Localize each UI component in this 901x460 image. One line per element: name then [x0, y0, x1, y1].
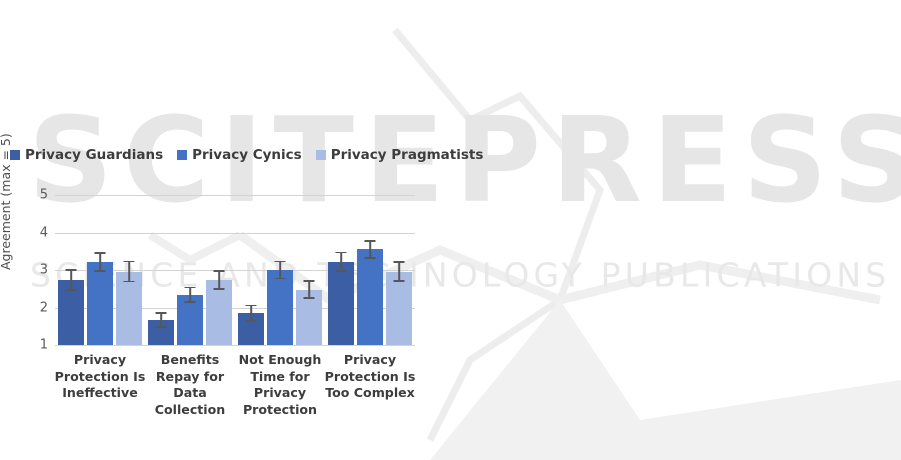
error-bar-cap-top — [304, 280, 315, 282]
error-bar-line — [218, 270, 220, 290]
error-bar-cap-bottom — [246, 320, 257, 322]
error-bar-cap-top — [365, 240, 376, 242]
error-bar-line — [340, 252, 342, 272]
error-bar-cap-top — [394, 261, 405, 263]
legend-swatch-icon — [10, 150, 20, 160]
error-bar — [177, 287, 203, 304]
legend-item-label: Privacy Pragmatists — [331, 147, 484, 163]
error-bar-cap-bottom — [394, 280, 405, 282]
error-bar-cap-top — [185, 287, 196, 289]
category-label-line: Protection Is — [50, 369, 150, 386]
error-bar-cap-bottom — [95, 270, 106, 272]
legend-item-label: Privacy Guardians — [25, 147, 163, 163]
error-bar — [296, 280, 322, 299]
x-axis-category-label: Not EnoughTime forPrivacyProtection — [230, 352, 330, 418]
category-label-line: Collection — [140, 402, 240, 419]
category-label-line: Data — [140, 385, 240, 402]
grouped-bar-chart: Privacy GuardiansPrivacy CynicsPrivacy P… — [0, 0, 901, 460]
error-bar — [328, 252, 354, 272]
error-bar-line — [128, 261, 130, 283]
error-bar-cap-top — [246, 305, 257, 307]
legend-item-2[interactable]: Privacy Pragmatists — [316, 147, 484, 163]
error-bar — [267, 261, 293, 280]
error-bar-cap-bottom — [304, 297, 315, 299]
y-axis-tick-label: 1 — [40, 338, 48, 353]
gridline-5 — [55, 195, 415, 196]
error-bar-line — [308, 280, 310, 299]
error-bar-cap-top — [214, 270, 225, 272]
error-bar — [58, 269, 84, 291]
y-axis-tick-label: 2 — [40, 300, 48, 315]
category-label-line: Privacy — [320, 352, 420, 369]
y-axis-tick-label: 4 — [40, 225, 48, 240]
error-bar-cap-top — [95, 252, 106, 254]
chart-legend: Privacy GuardiansPrivacy CynicsPrivacy P… — [10, 147, 483, 163]
error-bar — [386, 261, 412, 281]
error-bar-cap-top — [275, 261, 286, 263]
category-label-line: Privacy — [230, 385, 330, 402]
x-axis-category-label: BenefitsRepay forDataCollection — [140, 352, 240, 418]
y-axis-tick-label: 3 — [40, 263, 48, 278]
error-bar-cap-bottom — [185, 301, 196, 303]
bar — [206, 280, 232, 345]
category-label-line: Protection — [230, 402, 330, 419]
error-bar — [238, 305, 264, 322]
bar — [267, 270, 293, 345]
error-bar-line — [369, 240, 371, 259]
gridline-4 — [55, 233, 415, 234]
bar — [386, 272, 412, 346]
bar — [116, 272, 142, 346]
error-bar-cap-bottom — [336, 270, 347, 272]
error-bar-cap-top — [66, 269, 77, 271]
error-bar-cap-top — [156, 312, 167, 314]
error-bar-line — [398, 261, 400, 281]
error-bar-cap-bottom — [365, 257, 376, 259]
bar — [87, 262, 113, 345]
legend-item-label: Privacy Cynics — [192, 147, 302, 163]
category-label-line: Privacy — [50, 352, 150, 369]
legend-item-0[interactable]: Privacy Guardians — [10, 147, 163, 163]
error-bar-line — [70, 269, 72, 291]
y-axis-tick-label: 5 — [40, 188, 48, 203]
error-bar-cap-bottom — [66, 289, 77, 291]
category-label-line: Time for — [230, 369, 330, 386]
error-bar-line — [99, 252, 101, 272]
bar — [328, 262, 354, 345]
legend-item-1[interactable]: Privacy Cynics — [177, 147, 302, 163]
legend-swatch-icon — [316, 150, 326, 160]
x-axis-category-labels: PrivacyProtection IsIneffectiveBenefitsR… — [55, 352, 415, 452]
error-bar-cap-top — [124, 261, 135, 263]
x-axis-category-label: PrivacyProtection IsIneffective — [50, 352, 150, 402]
error-bar — [87, 252, 113, 272]
error-bar-cap-bottom — [156, 326, 167, 328]
category-label-line: Benefits — [140, 352, 240, 369]
error-bar — [206, 270, 232, 290]
bar — [357, 249, 383, 345]
error-bar-cap-bottom — [214, 288, 225, 290]
error-bar — [148, 312, 174, 328]
category-label-line: Repay for — [140, 369, 240, 386]
error-bar-cap-bottom — [124, 281, 135, 283]
error-bar — [357, 240, 383, 259]
plot-area: 12345 — [55, 195, 415, 345]
legend-swatch-icon — [177, 150, 187, 160]
error-bar-line — [279, 261, 281, 280]
category-label-line: Ineffective — [50, 385, 150, 402]
category-label-line: Not Enough — [230, 352, 330, 369]
category-label-line: Too Complex — [320, 385, 420, 402]
error-bar-cap-top — [336, 252, 347, 254]
error-bar-cap-bottom — [275, 278, 286, 280]
gridline-1 — [55, 345, 415, 346]
x-axis-category-label: PrivacyProtection IsToo Complex — [320, 352, 420, 402]
category-label-line: Protection Is — [320, 369, 420, 386]
error-bar — [116, 261, 142, 283]
